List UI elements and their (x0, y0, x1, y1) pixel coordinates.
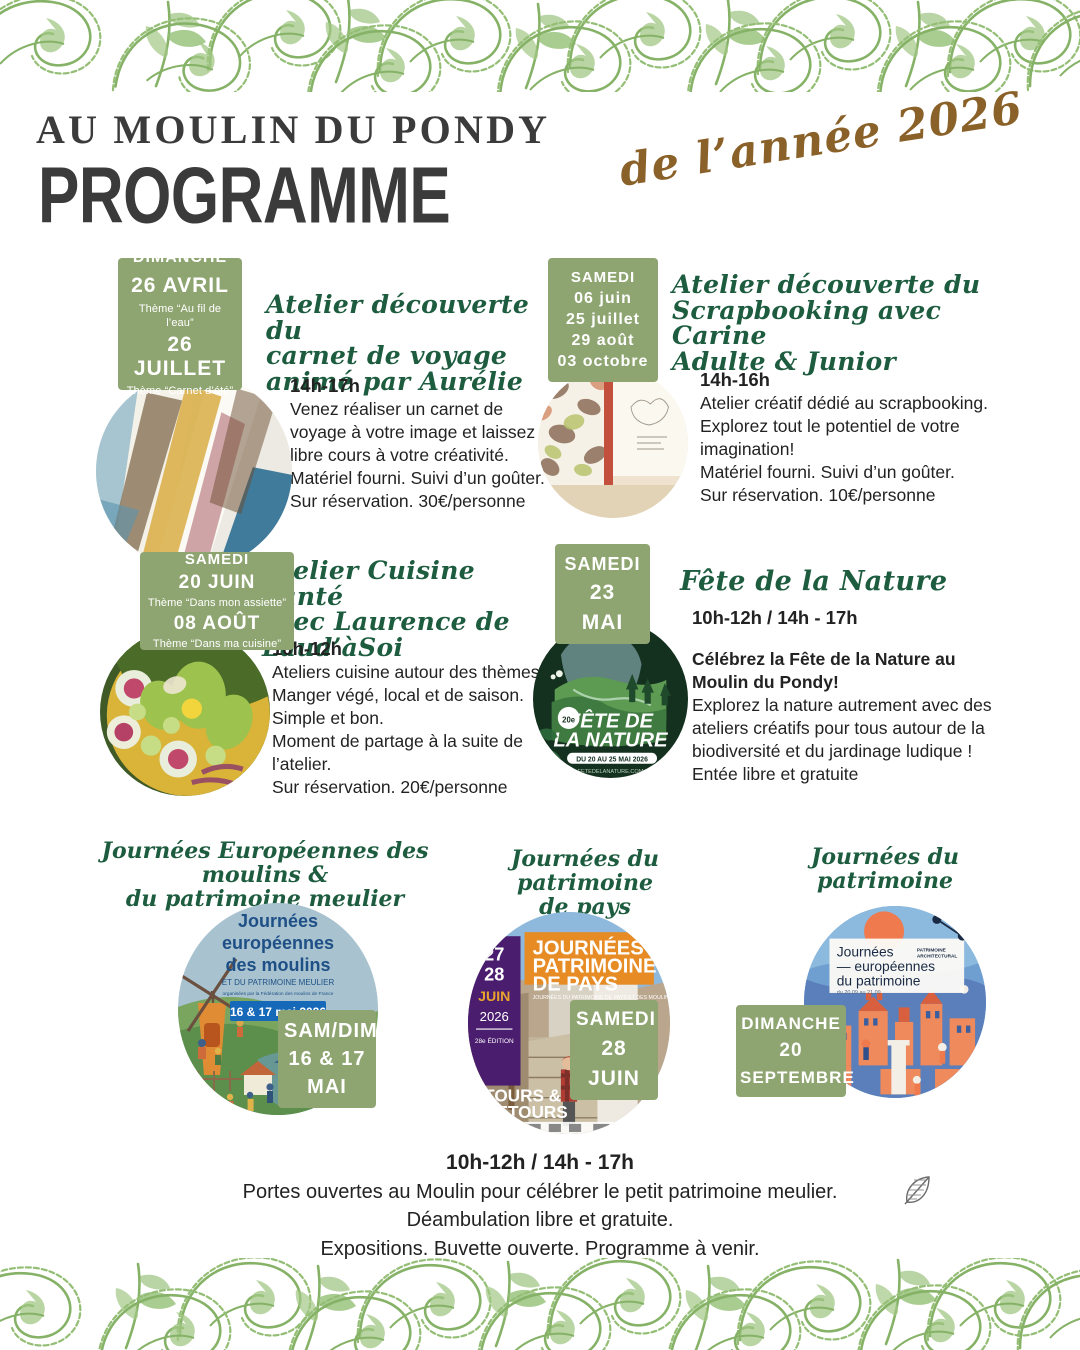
svg-text:PATRIMOINE: PATRIMOINE (917, 947, 946, 953)
badge-line: SAMEDI (554, 269, 652, 286)
desc-line: Sur réservation. 20€/personne (272, 776, 592, 799)
event-description-scrapbooking: Atelier créatif dédié au scrapbooking. E… (700, 392, 1030, 507)
badge-line: 26 AVRIL (124, 274, 236, 298)
svg-text:ET DU PATRIMOINE MEULIER: ET DU PATRIMOINE MEULIER (222, 978, 335, 987)
desc-line: Atelier créatif dédié au scrapbooking. (700, 392, 1030, 415)
badge-line: SAMEDI (561, 554, 644, 575)
desc-line: Sur réservation. 30€/personne (290, 490, 590, 513)
svg-text:du 20.09 au 21.09: du 20.09 au 21.09 (837, 990, 881, 996)
badge-line: 03 octobre (554, 353, 652, 371)
bottom-date-badge-moulins: SAM/DIM 16 & 17 MAI (278, 1010, 376, 1108)
svg-text:DE PAYS: DE PAYS (533, 974, 618, 996)
badge-line: 16 & 17 (284, 1048, 370, 1071)
event-photo-scrapbooking (538, 368, 688, 518)
poster-header: AU MOULIN DU PONDY PROGRAMME de l’année … (0, 96, 1080, 231)
badge-line: MAI (284, 1076, 370, 1099)
desc-line: Matériel fourni. Suivi d’un goûter. (700, 461, 1030, 484)
event-hours-carnet: 14h-17h (290, 374, 360, 398)
desc-line: Explorez tout le potentiel de votre (700, 415, 1030, 438)
badge-line: 08 AOÛT (145, 613, 289, 635)
event-hours-fete-nature: 10h-12h / 14h - 17h (692, 606, 858, 630)
badge-line: Thème “Dans ma cuisine” (145, 638, 289, 652)
badge-line: MAI (561, 611, 644, 635)
svg-text:européennes: européennes (222, 933, 334, 953)
event-lead-fete-nature: Célébrez la Fête de la Nature au Moulin … (692, 648, 1032, 694)
svg-text:27: 27 (484, 944, 504, 964)
desc-line: l’atelier. (272, 753, 592, 776)
bottom-title-patrimoine: Journées du patrimoine (760, 846, 1010, 894)
event-hours-scrapbooking: 14h-16h (700, 368, 770, 392)
event-photo-cuisine (100, 628, 270, 796)
bottom-title-patrimoine-pays: Journées du patrimoine de pays (440, 848, 730, 919)
lead-line: Moulin du Pondy! (692, 671, 1032, 694)
svg-text:des moulins: des moulins (225, 955, 330, 975)
svg-text:LA NATURE: LA NATURE (553, 729, 668, 751)
badge-line: DIMANCHE (740, 1014, 842, 1034)
badge-line: DIMANCHE (124, 249, 236, 267)
desc-line: Explorez la nature autrement avec des (692, 694, 1032, 717)
bottom-title-moulins: Journées Européennes des moulins & du pa… (100, 840, 430, 911)
badge-line: 25 juillet (554, 311, 652, 329)
svg-text:organisées par la Fédération d: organisées par la Fédération des moulins… (223, 991, 334, 997)
badge-line: 06 juin (554, 290, 652, 308)
paisley-border-top (0, 0, 1080, 92)
badge-line: SAMEDI (145, 551, 289, 568)
svg-text:FETEDELANATURE.COM: FETEDELANATURE.COM (578, 769, 644, 775)
svg-text:2026: 2026 (480, 1009, 509, 1024)
svg-text:Journées: Journées (238, 911, 318, 931)
page-title: PROGRAMME (38, 151, 450, 242)
badge-line: 23 (561, 581, 644, 605)
event-date-badge-scrapbooking: SAMEDI 06 juin 25 juillet 29 août 03 oct… (548, 258, 658, 382)
svg-text:ARCHITECTURAL: ARCHITECTURAL (917, 953, 958, 959)
event-title-scrapbooking: Atelier découverte du Scrapbooking avec … (672, 272, 982, 374)
badge-line: 26 JUILLET (124, 333, 236, 381)
svg-text:20e: 20e (562, 716, 576, 725)
badge-line: JUIN (576, 1067, 652, 1091)
poster-page: AU MOULIN DU PONDY PROGRAMME de l’année … (0, 0, 1080, 1350)
event-date-badge-cuisine: SAMEDI 20 JUIN Thème “Dans mon assiette”… (140, 552, 294, 650)
badge-line: SAMEDI (576, 1009, 652, 1031)
desc-line: Entée libre et gratuite (692, 763, 1032, 786)
badge-line: Thème “Carnet d’été” (124, 385, 236, 399)
desc-line: ateliers créatifs pour tous autour de la (692, 717, 1032, 740)
event-date-badge-fete-nature: SAMEDI 23 MAI (555, 544, 650, 644)
badge-line: Thème “Dans mon assiette” (145, 597, 289, 611)
event-description-fete-nature: Explorez la nature autrement avec des at… (692, 694, 1032, 786)
svg-text:Journées: Journées (837, 945, 894, 960)
badge-line: 29 août (554, 332, 652, 350)
page-kicker: AU MOULIN DU PONDY (36, 106, 550, 153)
paisley-border-bottom (0, 1258, 1080, 1350)
svg-text:28: 28 (484, 965, 504, 985)
desc-line: biodiversité et du jardinage ludique ! (692, 740, 1032, 763)
desc-line: imagination! (700, 438, 1030, 461)
badge-line: SAM/DIM (284, 1020, 370, 1043)
event-photo-carnet (96, 373, 292, 569)
desc-line: Sur réservation. 10€/personne (700, 484, 1030, 507)
badge-line: 20 (740, 1040, 842, 1062)
lead-line: Célébrez la Fête de la Nature au (692, 648, 1032, 671)
svg-text:JUIN: JUIN (478, 988, 510, 1004)
bottom-date-badge-patrimoine-pays: SAMEDI 28 JUIN (570, 1000, 658, 1100)
event-title-fete-nature: Fête de la Nature (680, 568, 1010, 596)
bottom-date-badge-patrimoine: DIMANCHE 20 SEPTEMBRE (736, 1005, 846, 1097)
badge-line: 28 (576, 1037, 652, 1061)
leaf-icon (896, 1168, 940, 1212)
svg-text:DU 20 AU 25 MAI 2026: DU 20 AU 25 MAI 2026 (576, 756, 648, 763)
svg-text:du patrimoine: du patrimoine (837, 974, 921, 989)
event-date-badge-carnet: DIMANCHE 26 AVRIL Thème “Au fil de l’eau… (118, 258, 242, 390)
badge-line: Thème “Au fil de l’eau” (124, 303, 236, 331)
svg-text:— européennes: — européennes (837, 959, 935, 974)
svg-text:28e ÉDITION: 28e ÉDITION (475, 1036, 514, 1045)
badge-line: 20 JUIN (145, 572, 289, 594)
svg-text:DETOURS: DETOURS (484, 1102, 568, 1122)
badge-line: SEPTEMBRE (740, 1068, 842, 1088)
page-subtitle-year: de l’année 2026 (616, 83, 1026, 197)
